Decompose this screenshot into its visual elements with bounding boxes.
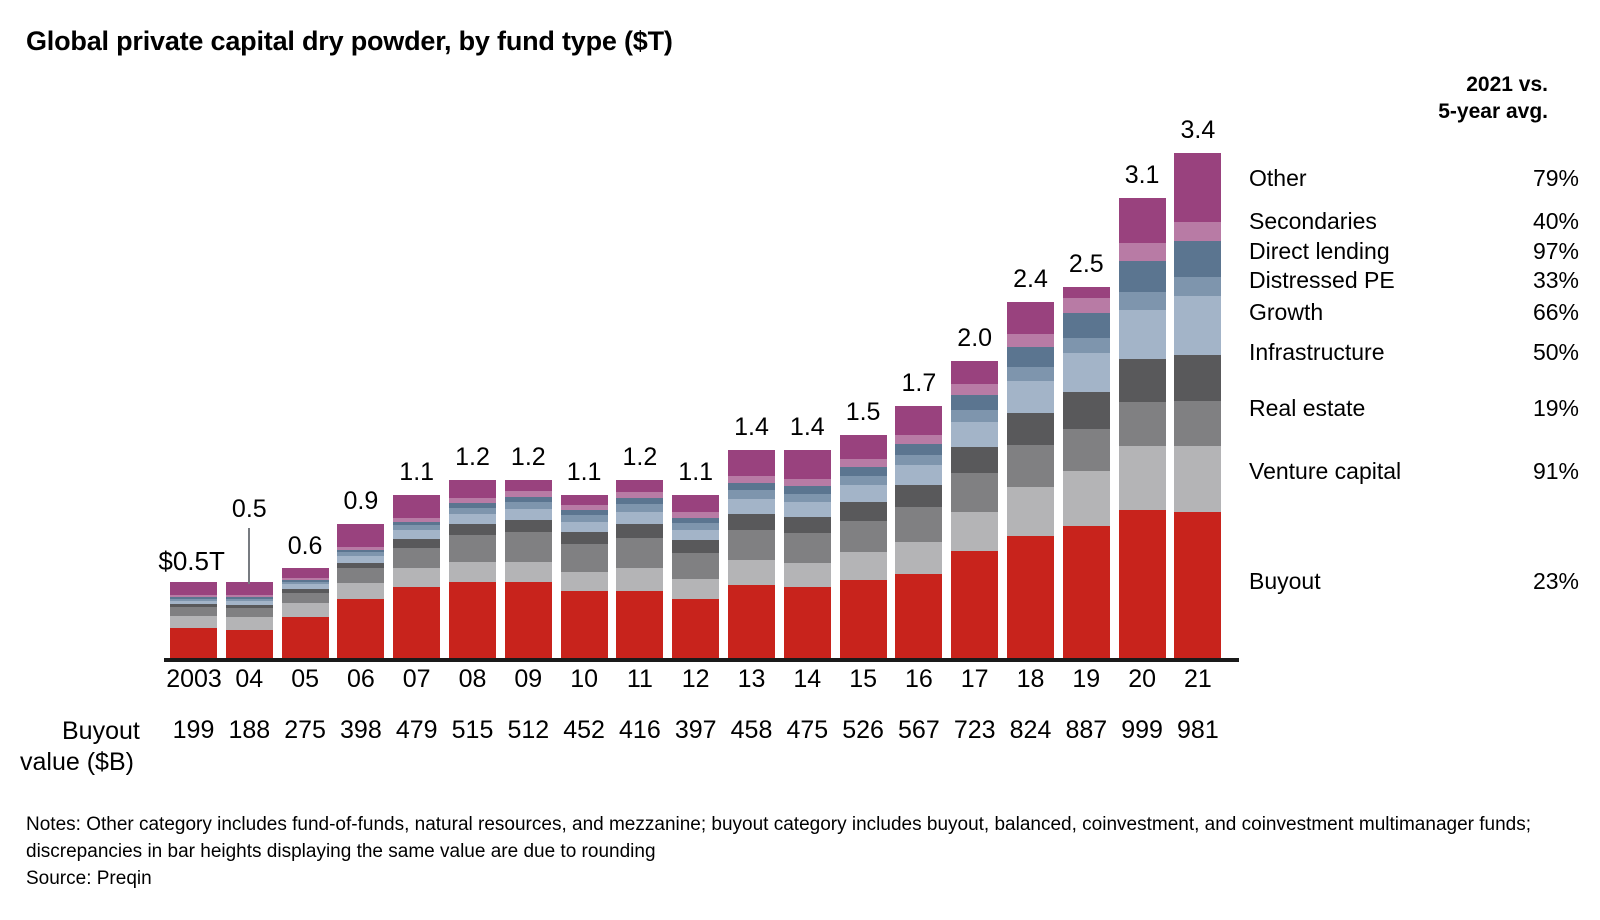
buyout-value-08: 515: [449, 716, 496, 745]
x-axis-tick-18: 18: [1007, 666, 1054, 694]
legend-label: Infrastructure: [1249, 339, 1385, 366]
legend-label: Growth: [1249, 299, 1323, 326]
legend-label: Buyout: [1249, 568, 1321, 595]
bar-segment-buyout[interactable]: [170, 628, 217, 658]
legend-item-buyout[interactable]: Buyout23%: [1249, 568, 1579, 595]
bar-segment-real-estate[interactable]: [170, 607, 217, 616]
bar-segment-growth[interactable]: [728, 499, 775, 513]
bar-segment-real-estate[interactable]: [505, 532, 552, 562]
bar-segment-buyout[interactable]: [226, 630, 273, 658]
bar-segment-other[interactable]: [170, 582, 217, 595]
value-leader-line: [248, 528, 250, 584]
x-axis-tick-14: 14: [784, 666, 831, 694]
bar-segment-direct-lending[interactable]: [1174, 241, 1221, 277]
legend-percent: 23%: [1509, 568, 1579, 595]
bar-segment-secondaries[interactable]: [895, 435, 942, 444]
bar-segment-growth[interactable]: [672, 530, 719, 541]
bar-value-label: 0.6: [288, 534, 323, 559]
bar-segment-venture-capital[interactable]: [951, 512, 998, 551]
stacked-bar[interactable]: [784, 450, 831, 658]
bar-segment-distressed-pe[interactable]: [616, 504, 663, 512]
bar-segment-other[interactable]: [449, 480, 496, 498]
x-axis-tick-06: 06: [337, 666, 384, 694]
x-axis-tick-05: 05: [282, 666, 329, 694]
bar-segment-venture-capital[interactable]: [672, 579, 719, 599]
bar-segment-direct-lending[interactable]: [728, 483, 775, 490]
bar-value-label: 1.7: [902, 371, 937, 396]
bar-segment-venture-capital[interactable]: [226, 617, 273, 630]
bar-segment-infrastructure[interactable]: [728, 514, 775, 530]
legend-percent: 66%: [1509, 299, 1579, 326]
bar-segment-growth[interactable]: [449, 514, 496, 524]
buyout-value-row-label: Buyout value ($B): [62, 716, 140, 779]
plot-area: $0.5T0.50.60.91.11.21.21.11.21.11.41.41.…: [0, 0, 1250, 660]
bar-segment-distressed-pe[interactable]: [1063, 338, 1110, 354]
bar-segment-real-estate[interactable]: [337, 568, 384, 582]
stacked-bar[interactable]: [337, 524, 384, 658]
bar-segment-real-estate[interactable]: [728, 530, 775, 560]
stacked-bar[interactable]: [449, 480, 496, 658]
bar-segment-secondaries[interactable]: [951, 384, 998, 395]
bar-segment-buyout[interactable]: [616, 591, 663, 658]
x-axis-tick-09: 09: [505, 666, 552, 694]
bar-segment-growth[interactable]: [337, 556, 384, 563]
bar-segment-secondaries[interactable]: [1174, 222, 1221, 241]
bar-segment-growth[interactable]: [561, 522, 608, 532]
bar-segment-buyout[interactable]: [337, 599, 384, 658]
bar-segment-other[interactable]: [561, 495, 608, 505]
buyout-value-04: 188: [226, 716, 273, 745]
bar-segment-buyout[interactable]: [1174, 512, 1221, 658]
bar-segment-secondaries[interactable]: [1007, 334, 1054, 347]
stacked-bar[interactable]: [895, 406, 942, 658]
x-axis-tick-10: 10: [561, 666, 608, 694]
buyout-value-09: 512: [505, 716, 552, 745]
bar-segment-venture-capital[interactable]: [337, 583, 384, 599]
bar-segment-venture-capital[interactable]: [616, 568, 663, 591]
bar-segment-growth[interactable]: [505, 509, 552, 520]
bar-segment-infrastructure[interactable]: [1063, 392, 1110, 429]
bar-value-label: 2.4: [1013, 267, 1048, 292]
bar-segment-direct-lending[interactable]: [1063, 313, 1110, 338]
bar-segment-real-estate[interactable]: [226, 608, 273, 617]
bar-segment-other[interactable]: [840, 435, 887, 458]
bar-segment-venture-capital[interactable]: [728, 560, 775, 585]
chart-container: Global private capital dry powder, by fu…: [0, 0, 1600, 920]
legend-percent: 33%: [1509, 267, 1579, 294]
stacked-bar[interactable]: [616, 480, 663, 658]
buyout-value-17: 723: [951, 716, 998, 745]
bar-segment-real-estate[interactable]: [282, 593, 329, 603]
bar-segment-real-estate[interactable]: [561, 544, 608, 571]
bar-segment-buyout[interactable]: [393, 587, 440, 658]
bar-segment-growth[interactable]: [616, 512, 663, 524]
legend-item-direct-lending[interactable]: Direct lending97%: [1249, 238, 1579, 265]
x-axis-tick-11: 11: [616, 666, 663, 694]
bar-segment-other[interactable]: [1119, 198, 1166, 243]
bar-segment-growth[interactable]: [1007, 381, 1054, 413]
bar-segment-other[interactable]: [784, 450, 831, 479]
bar-segment-real-estate[interactable]: [951, 473, 998, 512]
stacked-bar[interactable]: [1119, 198, 1166, 658]
bar-segment-infrastructure[interactable]: [1174, 355, 1221, 401]
bar-segment-secondaries[interactable]: [840, 459, 887, 467]
bar-segment-distressed-pe[interactable]: [1007, 367, 1054, 381]
bar-segment-secondaries[interactable]: [1119, 243, 1166, 261]
buyout-value-19: 887: [1063, 716, 1110, 745]
bar-segment-other[interactable]: [226, 582, 273, 594]
buyout-value-12: 397: [672, 716, 719, 745]
bar-segment-growth[interactable]: [1119, 310, 1166, 359]
legend-label: Other: [1249, 165, 1307, 192]
x-axis-tick-16: 16: [895, 666, 942, 694]
x-axis-tick-17: 17: [951, 666, 998, 694]
bar-value-label: $0.5T: [158, 548, 225, 574]
bar-segment-buyout[interactable]: [728, 585, 775, 658]
bar-segment-real-estate[interactable]: [1174, 401, 1221, 446]
bar-segment-venture-capital[interactable]: [282, 603, 329, 617]
x-axis-tick-07: 07: [393, 666, 440, 694]
bar-segment-real-estate[interactable]: [393, 548, 440, 569]
bar-segment-growth[interactable]: [784, 502, 831, 517]
bar-segment-distressed-pe[interactable]: [1174, 277, 1221, 296]
legend-item-secondaries[interactable]: Secondaries40%: [1249, 208, 1579, 235]
bar-segment-real-estate[interactable]: [616, 538, 663, 568]
bar-segment-buyout[interactable]: [449, 582, 496, 658]
bar-segment-distressed-pe[interactable]: [561, 515, 608, 522]
bar-segment-growth[interactable]: [840, 485, 887, 502]
bar-segment-direct-lending[interactable]: [840, 467, 887, 476]
bar-segment-infrastructure[interactable]: [672, 540, 719, 553]
buyout-value-14: 475: [784, 716, 831, 745]
buyout-row-label-line2: value ($B): [20, 747, 140, 778]
bar-segment-other[interactable]: [616, 480, 663, 492]
x-axis-tick-15: 15: [840, 666, 887, 694]
bar-segment-direct-lending[interactable]: [951, 395, 998, 410]
bar-segment-infrastructure[interactable]: [1119, 359, 1166, 402]
buyout-value-05: 275: [282, 716, 329, 745]
bar-value-label: 2.5: [1069, 252, 1104, 277]
comparison-header-line2: 5-year avg.: [1438, 99, 1548, 126]
bar-value-label: 1.2: [623, 445, 658, 470]
legend-label: Secondaries: [1249, 208, 1377, 235]
legend-item-growth[interactable]: Growth66%: [1249, 299, 1579, 326]
bar-segment-buyout[interactable]: [561, 591, 608, 658]
comparison-header-line1: 2021 vs.: [1438, 72, 1548, 99]
bar-value-label: 1.4: [734, 415, 769, 440]
bar-value-label: 1.5: [846, 400, 881, 425]
stacked-bar[interactable]: [951, 361, 998, 658]
bar-segment-distressed-pe[interactable]: [1119, 292, 1166, 310]
buyout-value-06: 398: [337, 716, 384, 745]
bar-segment-buyout[interactable]: [672, 599, 719, 658]
buyout-value-11: 416: [616, 716, 663, 745]
bar-value-label: 1.1: [567, 460, 602, 485]
legend-percent: 97%: [1509, 238, 1579, 265]
comparison-column-header: 2021 vs. 5-year avg.: [1438, 72, 1548, 126]
bar-segment-buyout[interactable]: [505, 582, 552, 658]
legend-label: Venture capital: [1249, 458, 1401, 485]
x-axis-tick-08: 08: [449, 666, 496, 694]
bar-segment-venture-capital[interactable]: [840, 552, 887, 579]
buyout-value-16: 567: [895, 716, 942, 745]
x-axis-tick-2003: 2003: [154, 666, 234, 694]
bar-segment-growth[interactable]: [393, 530, 440, 539]
bar-value-label: 1.1: [678, 460, 713, 485]
stacked-bar[interactable]: [1063, 287, 1110, 658]
legend-percent: 91%: [1509, 458, 1579, 485]
bar-segment-secondaries[interactable]: [728, 476, 775, 483]
stacked-bar[interactable]: [170, 582, 217, 658]
stacked-bar[interactable]: [672, 495, 719, 658]
x-axis-tick-21: 21: [1174, 666, 1221, 694]
buyout-value-2003: 199: [170, 716, 217, 745]
bar-segment-real-estate[interactable]: [449, 535, 496, 562]
bar-segment-other[interactable]: [1063, 287, 1110, 299]
legend-item-infrastructure[interactable]: Infrastructure50%: [1249, 339, 1579, 366]
legend-percent: 19%: [1509, 395, 1579, 422]
bar-value-label: 2.0: [957, 326, 992, 351]
bar-segment-venture-capital[interactable]: [784, 563, 831, 588]
x-axis-tick-20: 20: [1119, 666, 1166, 694]
bar-segment-real-estate[interactable]: [1063, 429, 1110, 471]
bar-segment-infrastructure[interactable]: [393, 539, 440, 547]
x-axis-line: [164, 658, 1239, 662]
bar-segment-growth[interactable]: [1174, 296, 1221, 355]
legend-item-other[interactable]: Other79%: [1249, 165, 1579, 192]
stacked-bar[interactable]: [282, 568, 329, 658]
bar-segment-other[interactable]: [505, 480, 552, 492]
x-axis-tick-19: 19: [1063, 666, 1110, 694]
bar-segment-direct-lending[interactable]: [1007, 347, 1054, 367]
buyout-value-07: 479: [393, 716, 440, 745]
legend-label: Real estate: [1249, 395, 1365, 422]
bar-segment-other[interactable]: [337, 524, 384, 547]
bar-segment-other[interactable]: [951, 361, 998, 384]
stacked-bar[interactable]: [505, 480, 552, 658]
bar-segment-venture-capital[interactable]: [1119, 446, 1166, 510]
bar-segment-venture-capital[interactable]: [449, 562, 496, 581]
legend-percent: 50%: [1509, 339, 1579, 366]
x-axis-tick-12: 12: [672, 666, 719, 694]
bar-segment-buyout[interactable]: [1063, 526, 1110, 658]
bar-segment-distressed-pe[interactable]: [784, 494, 831, 503]
bar-segment-real-estate[interactable]: [672, 553, 719, 579]
bar-segment-other[interactable]: [672, 495, 719, 513]
legend-percent: 40%: [1509, 208, 1579, 235]
bar-segment-distressed-pe[interactable]: [505, 502, 552, 509]
bar-value-label: 1.2: [455, 445, 490, 470]
bar-value-label: 1.1: [399, 460, 434, 485]
buyout-value-10: 452: [561, 716, 608, 745]
bar-value-label: 3.4: [1181, 118, 1216, 143]
bar-segment-other[interactable]: [1007, 302, 1054, 334]
legend-label: Direct lending: [1249, 238, 1390, 265]
bar-segment-venture-capital[interactable]: [1174, 446, 1221, 513]
bar-segment-infrastructure[interactable]: [895, 485, 942, 507]
bar-segment-buyout[interactable]: [282, 617, 329, 658]
x-axis-tick-04: 04: [226, 666, 273, 694]
legend-item-venture-capital[interactable]: Venture capital91%: [1249, 458, 1579, 485]
bar-segment-real-estate[interactable]: [1007, 445, 1054, 487]
stacked-bar[interactable]: [226, 582, 273, 658]
buyout-value-13: 458: [728, 716, 775, 745]
bar-segment-real-estate[interactable]: [840, 521, 887, 553]
notes-text: Notes: Other category includes fund-of-f…: [26, 814, 1531, 862]
bar-segment-other[interactable]: [728, 450, 775, 476]
bar-segment-infrastructure[interactable]: [784, 517, 831, 533]
bar-segment-growth[interactable]: [951, 422, 998, 447]
buyout-value-18: 824: [1007, 716, 1054, 745]
x-axis-tick-13: 13: [728, 666, 775, 694]
buyout-value-21: 981: [1174, 716, 1221, 745]
bar-segment-distressed-pe[interactable]: [672, 523, 719, 530]
bar-segment-direct-lending[interactable]: [895, 444, 942, 455]
bar-segment-other[interactable]: [1174, 153, 1221, 222]
bar-segment-other[interactable]: [282, 568, 329, 577]
legend-item-real-estate[interactable]: Real estate19%: [1249, 395, 1579, 422]
buyout-row-label-line1: Buyout: [62, 717, 140, 745]
bar-segment-buyout[interactable]: [1119, 510, 1166, 658]
stacked-bar[interactable]: [840, 435, 887, 658]
bar-value-label: 1.4: [790, 415, 825, 440]
bar-segment-distressed-pe[interactable]: [895, 455, 942, 465]
bar-segment-venture-capital[interactable]: [1063, 471, 1110, 526]
bar-segment-secondaries[interactable]: [784, 479, 831, 486]
bar-segment-secondaries[interactable]: [1063, 298, 1110, 313]
bar-segment-distressed-pe[interactable]: [840, 476, 887, 485]
bar-segment-infrastructure[interactable]: [561, 532, 608, 544]
bar-segment-infrastructure[interactable]: [1007, 413, 1054, 445]
legend-percent: 79%: [1509, 165, 1579, 192]
legend-item-distressed-pe[interactable]: Distressed PE33%: [1249, 267, 1579, 294]
stacked-bar[interactable]: [561, 495, 608, 658]
bar-segment-venture-capital[interactable]: [895, 542, 942, 574]
bar-segment-real-estate[interactable]: [895, 507, 942, 542]
bar-segment-infrastructure[interactable]: [840, 502, 887, 521]
bar-segment-real-estate[interactable]: [784, 533, 831, 563]
bar-segment-real-estate[interactable]: [1119, 402, 1166, 446]
bar-segment-other[interactable]: [393, 495, 440, 518]
bar-segment-venture-capital[interactable]: [505, 562, 552, 582]
bar-segment-infrastructure[interactable]: [505, 520, 552, 532]
legend-label: Distressed PE: [1249, 267, 1395, 294]
stacked-bar[interactable]: [728, 450, 775, 658]
buyout-value-20: 999: [1119, 716, 1166, 745]
bar-segment-venture-capital[interactable]: [1007, 487, 1054, 536]
bar-segment-venture-capital[interactable]: [561, 572, 608, 591]
bar-segment-venture-capital[interactable]: [393, 568, 440, 587]
bar-segment-growth[interactable]: [895, 465, 942, 485]
bar-segment-infrastructure[interactable]: [951, 447, 998, 473]
stacked-bar[interactable]: [1174, 153, 1221, 658]
bar-segment-buyout[interactable]: [1007, 536, 1054, 658]
bar-segment-buyout[interactable]: [784, 587, 831, 658]
chart-notes: Notes: Other category includes fund-of-f…: [26, 812, 1571, 893]
bar-value-label: 0.9: [344, 489, 379, 514]
stacked-bar[interactable]: [393, 495, 440, 658]
bar-segment-other[interactable]: [895, 406, 942, 435]
stacked-bar[interactable]: [1007, 302, 1054, 658]
bar-segment-buyout[interactable]: [895, 574, 942, 658]
bar-segment-venture-capital[interactable]: [170, 616, 217, 629]
buyout-value-15: 526: [840, 716, 887, 745]
bar-segment-growth[interactable]: [1063, 353, 1110, 392]
bar-segment-direct-lending[interactable]: [784, 486, 831, 493]
bar-value-label: 3.1: [1125, 163, 1160, 188]
notes-source: Source: Preqin: [26, 866, 1571, 893]
bar-value-label: 1.2: [511, 445, 546, 470]
bar-segment-distressed-pe[interactable]: [728, 490, 775, 499]
bar-segment-direct-lending[interactable]: [1119, 261, 1166, 292]
bar-segment-distressed-pe[interactable]: [951, 410, 998, 422]
bar-segment-infrastructure[interactable]: [616, 524, 663, 538]
bar-value-label: 0.5: [232, 497, 267, 522]
bar-segment-buyout[interactable]: [951, 551, 998, 658]
bar-segment-buyout[interactable]: [840, 580, 887, 658]
bar-segment-infrastructure[interactable]: [449, 524, 496, 534]
